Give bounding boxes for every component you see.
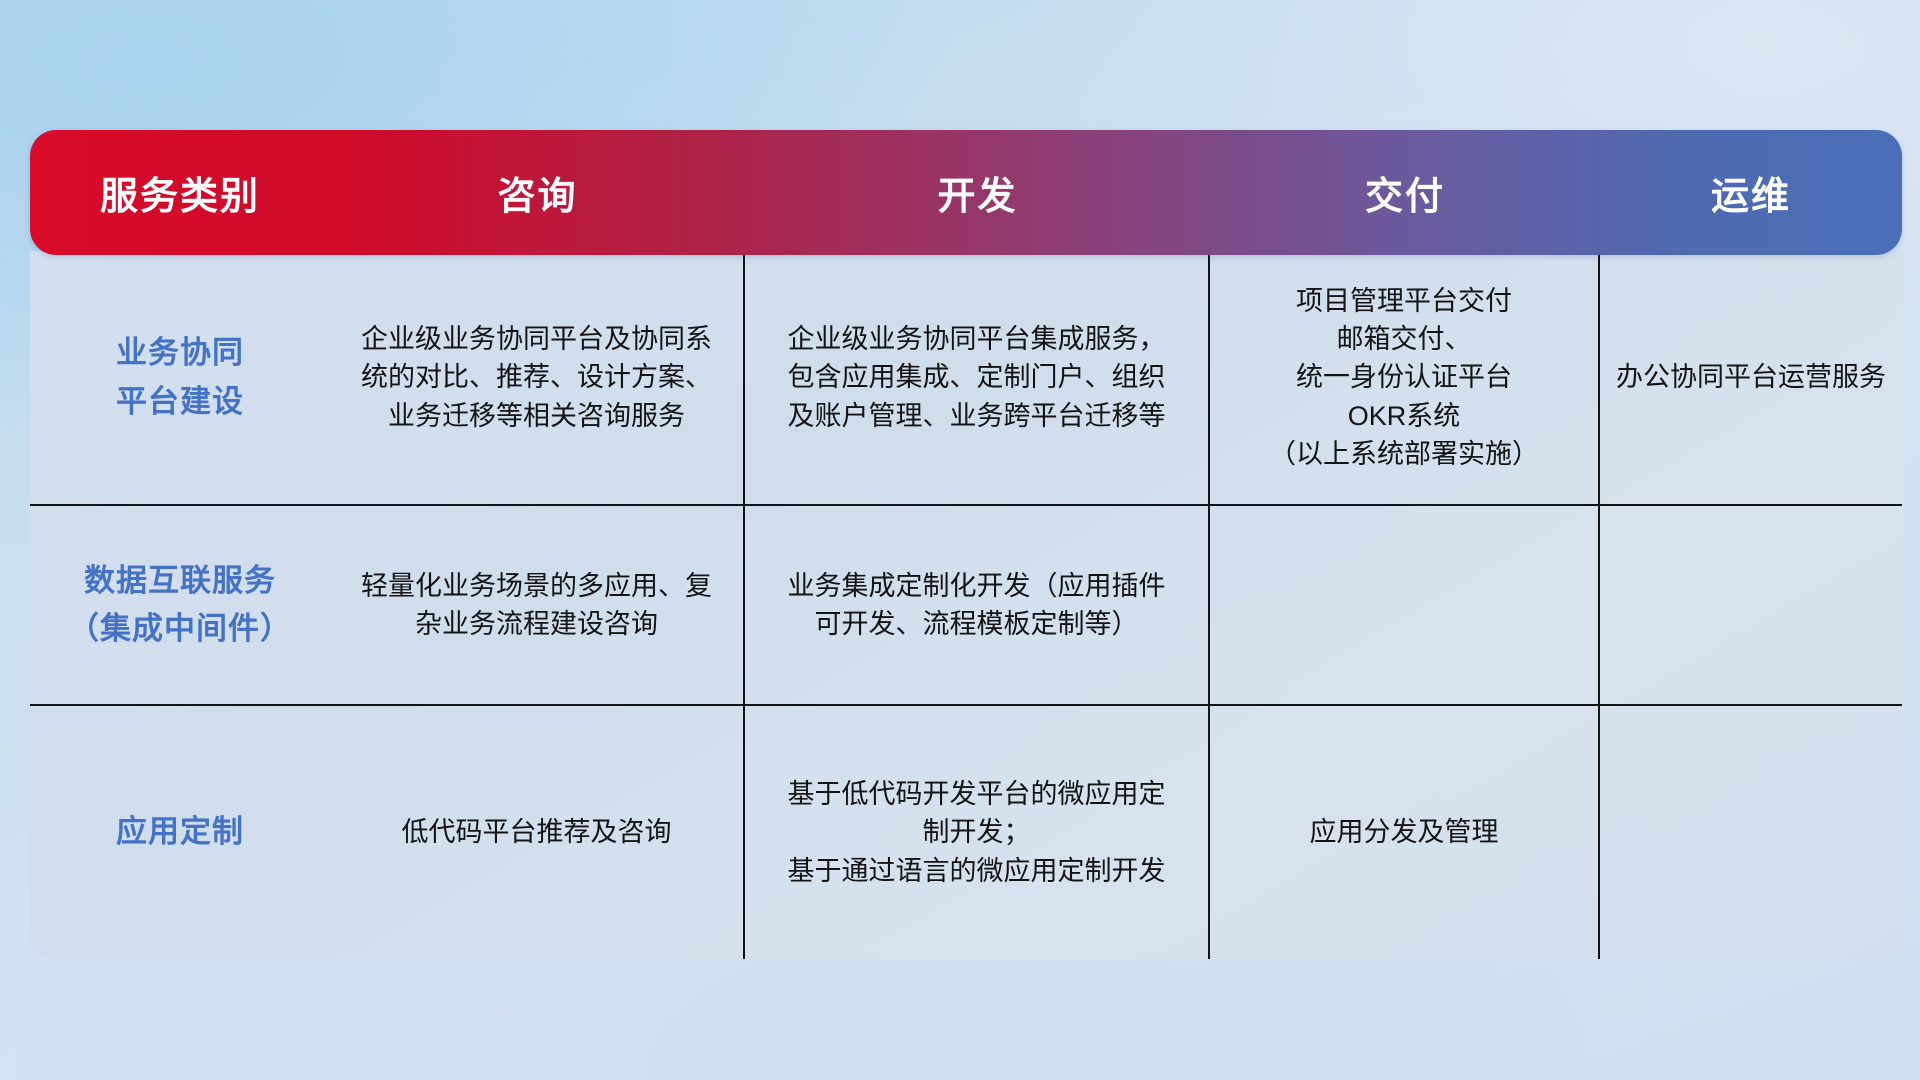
column-header-consulting: 咨询 <box>330 130 745 255</box>
cell-operations <box>1600 506 1902 704</box>
table-row: 数据互联服务 （集成中间件） 轻量化业务场景的多应用、复 杂业务流程建设咨询 业… <box>30 506 1902 706</box>
table-body: 业务协同 平台建设 企业级业务协同平台及协同系 统的对比、推荐、设计方案、 业务… <box>30 251 1902 959</box>
cell-operations: 办公协同平台运营服务 <box>1600 251 1902 504</box>
table-row: 业务协同 平台建设 企业级业务协同平台及协同系 统的对比、推荐、设计方案、 业务… <box>30 251 1902 506</box>
cell-consulting: 低代码平台推荐及咨询 <box>330 706 745 959</box>
cell-operations <box>1600 706 1902 959</box>
table-row: 应用定制 低代码平台推荐及咨询 基于低代码开发平台的微应用定 制开发； 基于通过… <box>30 706 1902 959</box>
cell-consulting: 轻量化业务场景的多应用、复 杂业务流程建设咨询 <box>330 506 745 704</box>
cell-delivery: 项目管理平台交付 邮箱交付、 统一身份认证平台 OKR系统 （以上系统部署实施） <box>1210 251 1600 504</box>
cell-delivery: 应用分发及管理 <box>1210 706 1600 959</box>
service-matrix-table: 服务类别 咨询 开发 交付 运维 业务协同 平台建设 企业级业务协同平台及协同系… <box>30 130 1902 959</box>
column-header-category: 服务类别 <box>30 130 330 255</box>
cell-development: 业务集成定制化开发（应用插件 可开发、流程模板定制等） <box>745 506 1210 704</box>
row-category-label: 业务协同 平台建设 <box>30 251 330 504</box>
slide-canvas: 服务类别 咨询 开发 交付 运维 业务协同 平台建设 企业级业务协同平台及协同系… <box>0 0 1920 1080</box>
column-header-development: 开发 <box>745 130 1210 255</box>
cell-consulting: 企业级业务协同平台及协同系 统的对比、推荐、设计方案、 业务迁移等相关咨询服务 <box>330 251 745 504</box>
cell-delivery <box>1210 506 1600 704</box>
column-header-operations: 运维 <box>1600 130 1902 255</box>
table-header-row: 服务类别 咨询 开发 交付 运维 <box>30 130 1902 255</box>
cell-development: 企业级业务协同平台集成服务， 包含应用集成、定制门户、组织 及账户管理、业务跨平… <box>745 251 1210 504</box>
row-category-label: 数据互联服务 （集成中间件） <box>30 506 330 704</box>
column-header-delivery: 交付 <box>1210 130 1600 255</box>
cell-development: 基于低代码开发平台的微应用定 制开发； 基于通过语言的微应用定制开发 <box>745 706 1210 959</box>
row-category-label: 应用定制 <box>30 706 330 959</box>
